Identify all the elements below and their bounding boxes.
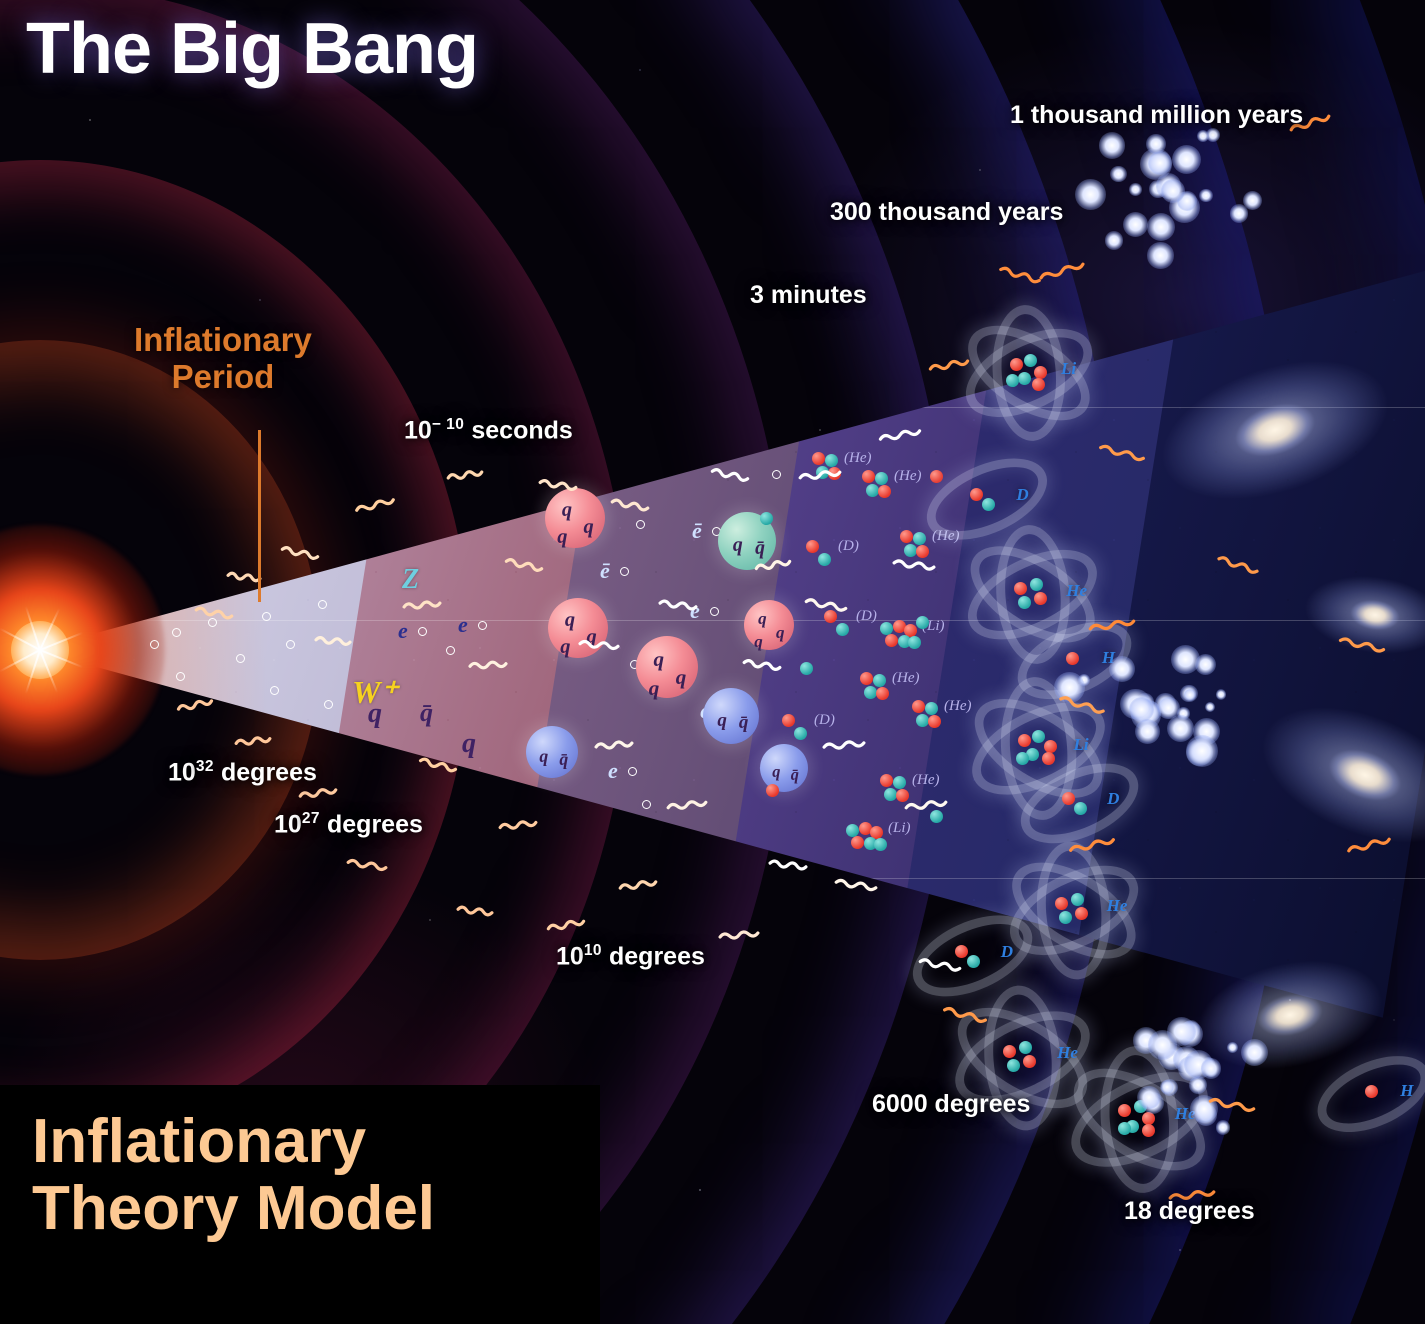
hadron: qq̄ [703,688,759,744]
label-t-10-32-deg: 1032 degrees [168,758,317,787]
quark-glyph: q [653,647,664,672]
label-t-10-10-deg: 1010 degrees [556,942,705,971]
neutron-dot [1019,1041,1032,1054]
proton-dot [1003,1045,1016,1058]
neutron-dot [1059,911,1072,924]
neutron-dot [1074,802,1087,815]
star-cluster-node [1172,145,1201,174]
electron-glyph: e [458,614,468,636]
star-cluster-node [1146,134,1166,154]
neutron-dot [1118,1122,1131,1135]
star-cluster-node [1105,231,1124,250]
neutrino-ring-icon [620,567,629,576]
neutron-dot [873,674,886,687]
neutrino-ring-icon [710,607,719,616]
neutron-dot [1006,374,1019,387]
star-cluster-node [1167,1017,1196,1046]
atom-label: D [1001,942,1013,962]
neutron-dot [825,454,838,467]
neutrino-ring-icon [418,627,427,636]
proton-dot [928,715,941,728]
neutron-dot [893,776,906,789]
pointer-line-icon [258,430,261,602]
atom-label: D [1016,485,1028,505]
quark-glyph: q [733,534,743,557]
inflationary-period-line2: Period [134,359,312,396]
proton-dot [1010,358,1023,371]
proton-dot [885,634,898,647]
proton-dot [1055,897,1068,910]
proton-dot [806,540,819,553]
proton-dot [970,488,983,501]
quark-glyph: q̄ [791,765,799,785]
star-cluster-node [1171,645,1200,674]
caption-line1: Inflationary [32,1109,435,1176]
neutrino-ring-icon [478,621,487,630]
neutrino-ring-icon [636,520,645,529]
proton-dot [1034,366,1047,379]
proton-dot [912,700,925,713]
proton-dot [876,687,889,700]
label-t-300-thousand-years: 300 thousand years [830,198,1063,227]
proton-dot [766,784,779,797]
proton-dot [896,789,909,802]
star-cluster-node [1197,130,1209,142]
atom-label: Li [1061,359,1076,379]
star-cluster-node [1109,656,1135,682]
hadron: qqq [545,488,605,548]
proton-dot [955,945,968,958]
proton-dot [812,452,825,465]
neutron-dot [875,472,888,485]
atom-nucleus [1345,1065,1385,1105]
neutron-dot [1018,372,1031,385]
label-t-10-neg10-s: 10− 10 seconds [404,416,573,445]
proton-dot [860,672,873,685]
caption-line2: Theory Model [32,1176,435,1243]
nucleus-label: (D) [814,712,835,729]
caption-box: Inflationary Theory Model [0,1085,600,1324]
big-bang-diagram: qeZW⁺q̄eqēeēee qqqqq̄qqqqqqqq̄qq̄qqqqq… [0,0,1425,1324]
quark-glyph: q̄ [739,712,749,734]
atom-nucleus [958,470,998,510]
neutron-dot [967,955,980,968]
proton-dot [1023,1055,1036,1068]
neutrino-ring-icon [262,612,271,621]
nucleus-label: (He) [844,450,871,467]
star-cluster-node [1186,735,1218,767]
hadron: qq̄ [526,726,578,778]
nucleus-label: (Li) [888,820,911,837]
inflationary-period-label: Inflationary Period [134,322,312,396]
neutron-dot [874,838,887,851]
z-boson-glyph: Z [402,566,419,594]
atom-label: He [1107,896,1128,916]
neutrino-ring-icon [172,628,181,637]
proton-dot [782,714,795,727]
nucleus-label: (He) [912,772,939,789]
neutron-dot [930,810,943,823]
quark-glyph: q [539,746,548,767]
proton-dot [1075,907,1088,920]
neutron-dot [818,553,831,566]
proton-dot [1066,652,1079,665]
star-cluster-node [1099,132,1126,159]
proton-dot [1142,1124,1155,1137]
neutron-dot [982,498,995,511]
star-cluster-node [1129,183,1142,196]
neutrino-ring-icon [150,640,159,649]
neutron-dot [925,702,938,715]
quark-glyph: q [562,499,572,522]
atom-nucleus [993,1029,1033,1069]
atom-nucleus [1046,632,1086,672]
neutrino-ring-icon [642,800,651,809]
quark-glyph: q [565,609,575,632]
cone-seam [48,620,1425,621]
neutrino-ring-icon [772,470,781,479]
hadron: qqq [744,600,794,650]
neutrino-ring-icon [176,672,185,681]
neutron-dot [1007,1059,1020,1072]
caption: Inflationary Theory Model [32,1109,435,1243]
star-cluster-node [1147,242,1173,268]
electron-glyph: e [608,760,618,782]
star-cluster-node [1129,697,1154,722]
neutrino-ring-icon [286,640,295,649]
star-cluster-node [1075,179,1106,210]
quark-glyph: q [649,676,660,701]
neutrino-ring-icon [318,600,327,609]
neutron-dot [760,512,773,525]
neutron-dot [916,616,929,629]
proton-dot [878,485,891,498]
quark-glyph: q [717,710,727,732]
atom-nucleus [1050,774,1090,814]
neutrino-ring-icon [270,686,279,695]
neutrino-ring-icon [208,618,217,627]
quark-glyph: q [772,762,780,782]
neutron-dot [1030,578,1043,591]
star-cluster-node [1161,179,1185,203]
neutron-dot [1024,354,1037,367]
neutron-dot [794,727,807,740]
quark-glyph: q [776,623,785,643]
neutron-dot [800,662,813,675]
label-t-1-thousand-million-years: 1 thousand million years [1010,101,1303,130]
atom: Li [956,300,1084,428]
quark-glyph: q̄ [755,537,765,560]
nucleus-label: (D) [856,608,877,625]
proton-dot [1014,582,1027,595]
atom-nucleus [1045,881,1085,921]
electron-glyph: ē [600,560,610,582]
quark-glyph: q [560,636,570,659]
label-t-6000-degrees: 6000 degrees [872,1090,1030,1119]
quark-glyph: q [583,516,593,539]
quark-glyph: q [676,665,687,690]
star-cluster-node [1201,1058,1221,1078]
proton-dot [1032,378,1045,391]
proton-dot [862,470,875,483]
electron-glyph: e [398,620,408,642]
inflationary-period-line1: Inflationary [134,322,312,359]
proton-dot [880,774,893,787]
quark-glyph: q [557,526,567,549]
label-t-10-27-deg: 1027 degrees [274,810,423,839]
nucleus-label: (D) [838,538,859,555]
atom-nucleus [1000,344,1040,384]
neutrino-ring-icon [446,646,455,655]
quark-glyph: q̄ [559,749,568,770]
proton-dot [1062,792,1075,805]
neutron-dot [908,636,921,649]
electron-glyph: ē [692,520,702,542]
label-t-18-degrees: 18 degrees [1124,1197,1255,1226]
proton-dot [1118,1104,1131,1117]
page-title: The Big Bang [26,8,478,90]
label-t-3-minutes: 3 minutes [750,281,867,310]
proton-dot [900,530,913,543]
quark-glyph: q̄ [420,700,433,726]
atom-label: D [1107,789,1119,809]
neutron-dot [1071,893,1084,906]
quark-glyph: q [754,632,763,652]
proton-dot [824,610,837,623]
neutrino-ring-icon [324,700,333,709]
star-cluster-node [1110,166,1126,182]
quark-glyph: q [462,730,476,758]
star-cluster-node [1227,1042,1238,1053]
quark-glyph: q [758,609,767,629]
atom-label: H [1400,1081,1413,1101]
proton-dot [1365,1085,1378,1098]
w-plus-boson-glyph: W⁺ [352,676,397,708]
hadron: qqq [636,636,698,698]
proton-dot [851,836,864,849]
nucleus-label: (He) [892,670,919,687]
neutrino-ring-icon [236,654,245,663]
neutron-dot [836,623,849,636]
neutrino-ring-icon [628,767,637,776]
